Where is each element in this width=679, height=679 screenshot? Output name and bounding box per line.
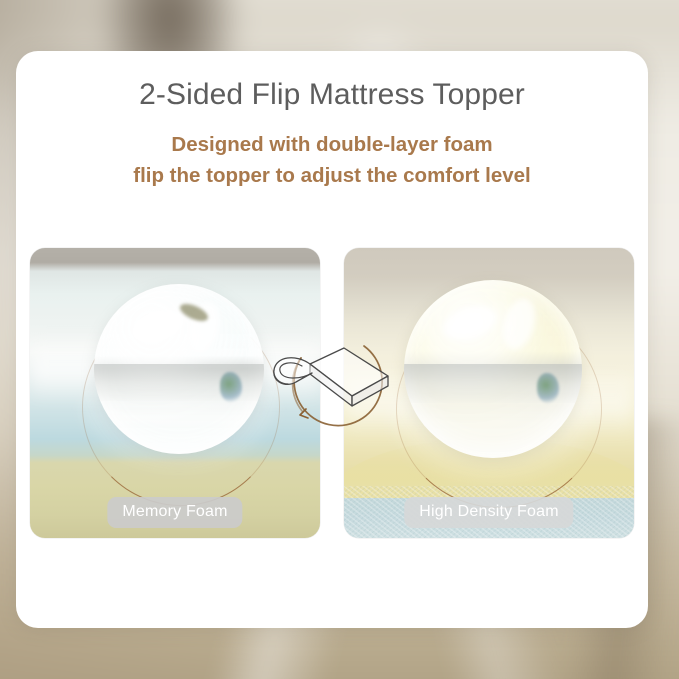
- flip-mattress-icon: [268, 318, 396, 438]
- sphere-highlight: [440, 301, 501, 346]
- subtitle-line-2: flip the topper to adjust the comfort le…: [16, 160, 648, 191]
- content-card: 2-Sided Flip Mattress Topper Designed wi…: [16, 51, 648, 628]
- sphere-highlight: [497, 295, 540, 353]
- sphere-foliage-reflection: [537, 373, 559, 403]
- glass-sphere-left: [94, 284, 264, 454]
- comparison-panels: Memory Foam High Density Foam: [16, 248, 648, 538]
- glass-sphere-right: [404, 280, 582, 458]
- sphere-highlight: [128, 304, 189, 349]
- subtitle: Designed with double-layer foam flip the…: [16, 112, 648, 191]
- page-title: 2-Sided Flip Mattress Topper: [16, 51, 648, 112]
- caption-memory-foam: Memory Foam: [107, 497, 242, 528]
- subtitle-line-1: Designed with double-layer foam: [16, 129, 648, 160]
- product-infographic: 2-Sided Flip Mattress Topper Designed wi…: [0, 0, 679, 679]
- sphere-foliage-reflection: [220, 372, 242, 402]
- caption-high-density-foam: High Density Foam: [404, 497, 573, 528]
